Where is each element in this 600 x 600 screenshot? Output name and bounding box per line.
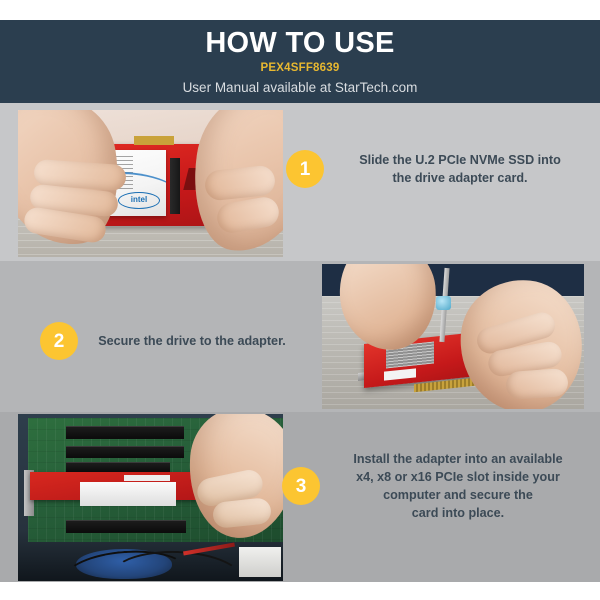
- step-2-number-badge: 2: [40, 322, 78, 360]
- product-sku: PEX4SFF8639: [261, 61, 340, 76]
- step-3-photo: [18, 414, 283, 581]
- step-1-photo: intel: [18, 110, 283, 257]
- photo-1-u2-connector: [170, 158, 180, 214]
- step-1-text: Slide the U.2 PCIe NVMe SSD into the dri…: [324, 151, 586, 187]
- photo-2-screwdriver-handle: [436, 296, 451, 310]
- photo-1-intel-logo: intel: [118, 192, 160, 209]
- step-2-text: Secure the drive to the adapter.: [78, 332, 290, 350]
- photo-3-pcie-slot-2: [66, 446, 184, 458]
- step-1-instruction: 1 Slide the U.2 PCIe NVMe SSD into the d…: [286, 150, 586, 188]
- photo-3-card-label: [124, 475, 170, 481]
- photo-3-drive-body: [80, 482, 176, 506]
- header-banner: HOW TO USE PEX4SFF8639 User Manual avail…: [0, 20, 600, 103]
- step-2-instruction: 2 Secure the drive to the adapter.: [40, 322, 290, 360]
- page-title: HOW TO USE: [205, 26, 394, 60]
- photo-2-right-finger-3: [505, 368, 569, 400]
- manual-availability-note: User Manual available at StarTech.com: [183, 78, 418, 97]
- step-3-instruction: 3 Install the adapter into an available …: [282, 450, 588, 522]
- step-3-number-badge: 3: [282, 467, 320, 505]
- photo-3-pcie-slot-4: [66, 520, 186, 533]
- step-3-text: Install the adapter into an available x4…: [320, 450, 588, 522]
- step-1-number-badge: 1: [286, 150, 324, 188]
- step-2-photo: [322, 264, 584, 409]
- photo-3-pcie-slot-1: [66, 426, 184, 439]
- photo-3-psu-connector: [239, 547, 281, 577]
- how-to-use-infographic: HOW TO USE PEX4SFF8639 User Manual avail…: [0, 0, 600, 600]
- photo-1-gold-connector: [134, 136, 174, 145]
